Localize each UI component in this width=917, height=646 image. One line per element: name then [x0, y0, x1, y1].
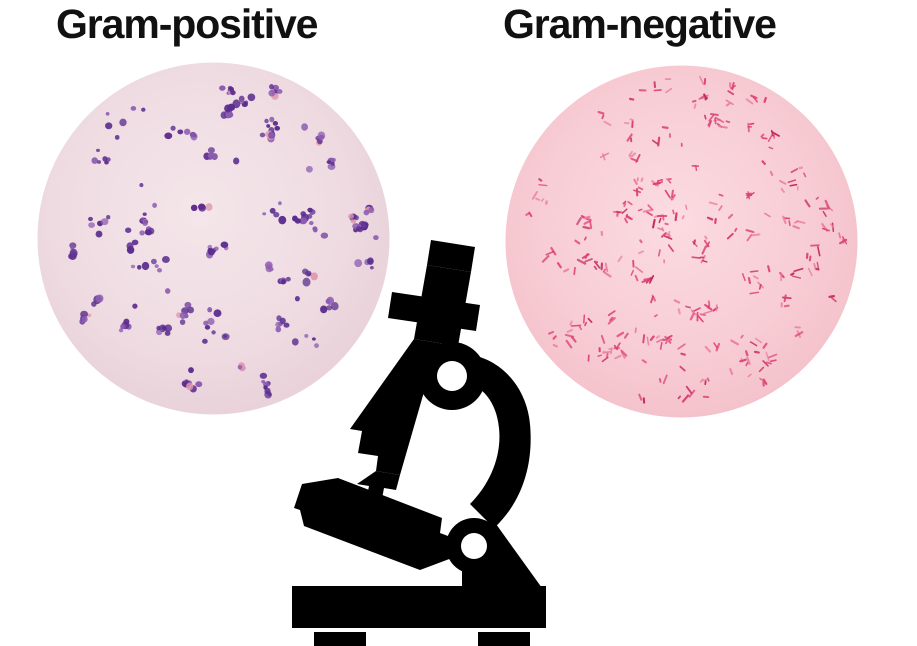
- figure-canvas: Gram-positive Gram-negative: [0, 0, 917, 646]
- coccus-cell: [137, 265, 141, 270]
- coccus-cell: [318, 135, 323, 140]
- microscope-svg: [280, 228, 580, 646]
- base-icon: [292, 586, 546, 628]
- coccus-cell: [162, 256, 170, 263]
- coccus-cell: [224, 105, 231, 113]
- coccus-cell: [186, 382, 193, 390]
- coccus-cell: [88, 217, 93, 221]
- coccus-cell: [307, 214, 312, 219]
- coccus-cell: [157, 268, 162, 273]
- coccus-cell: [268, 90, 275, 97]
- coccus-cell: [214, 309, 222, 317]
- coccus-cell: [177, 129, 183, 134]
- coccus-cell: [119, 119, 126, 127]
- coccus-cell: [180, 319, 185, 325]
- coccus-cell: [263, 385, 267, 389]
- coccus-cell: [125, 227, 131, 232]
- coccus-cell: [96, 294, 104, 302]
- coccus-cell: [278, 216, 286, 224]
- bacillus-cell: [639, 89, 647, 92]
- coccus-cell: [198, 204, 205, 210]
- coccus-cell: [232, 99, 240, 108]
- coccus-cell: [187, 307, 194, 314]
- coarse-focus-knob-icon: [437, 361, 467, 391]
- coccus-cell: [270, 208, 276, 214]
- bacillus-cell: [692, 165, 699, 167]
- coccus-cell: [115, 135, 120, 140]
- coccus-cell: [91, 157, 97, 164]
- coccus-cell: [155, 264, 159, 268]
- coccus-cell: [238, 365, 243, 369]
- coccus-cell: [211, 330, 215, 334]
- bacillus-cell: [599, 347, 601, 352]
- coccus-cell: [260, 133, 266, 138]
- coccus-cell: [97, 160, 101, 164]
- bacillus-cell: [600, 262, 603, 270]
- coccus-cell: [278, 201, 282, 205]
- coccus-cell: [300, 211, 306, 216]
- coccus-cell: [348, 214, 354, 219]
- coccus-cell: [262, 212, 266, 215]
- bacillus-cell: [797, 186, 799, 191]
- coccus-cell: [123, 319, 129, 325]
- microscope-illustration: [280, 228, 580, 646]
- coccus-cell: [126, 242, 133, 249]
- coccus-cell: [106, 112, 110, 116]
- coccus-cell: [139, 230, 144, 235]
- coccus-cell: [221, 242, 229, 248]
- coccus-cell: [106, 215, 110, 219]
- coccus-cell: [180, 312, 186, 319]
- bacillus-cell: [637, 177, 639, 181]
- bacillus-cell: [665, 78, 672, 80]
- coccus-cell: [202, 339, 208, 344]
- coccus-cell: [363, 210, 369, 216]
- coccus-cell: [145, 229, 151, 235]
- bacillus-cell: [657, 215, 667, 217]
- coccus-cell: [119, 328, 123, 332]
- coccus-cell: [96, 149, 100, 152]
- coccus-cell: [143, 212, 147, 215]
- coccus-cell: [141, 108, 145, 112]
- coccus-cell: [156, 326, 161, 331]
- coccus-cell: [184, 129, 190, 135]
- coccus-cell: [91, 301, 97, 307]
- bacillus-cell: [729, 82, 731, 88]
- coccus-cell: [274, 126, 280, 131]
- bacillus-cell: [780, 272, 782, 281]
- coccus-cell: [309, 209, 315, 215]
- coccus-cell: [296, 219, 300, 223]
- coccus-cell: [369, 207, 375, 213]
- coccus-cell: [190, 133, 197, 141]
- coccus-cell: [131, 265, 135, 269]
- coccus-cell: [88, 222, 95, 228]
- base-foot-right-icon: [478, 632, 530, 646]
- coccus-cell: [277, 89, 283, 94]
- fine-focus-knob-icon: [461, 533, 487, 559]
- bacillus-cell: [643, 397, 645, 404]
- coccus-cell: [273, 121, 278, 126]
- coccus-cell: [306, 166, 313, 173]
- coccus-cell: [106, 157, 111, 162]
- coccus-cell: [269, 84, 274, 89]
- coccus-cell: [229, 87, 234, 92]
- coccus-cell: [140, 217, 144, 221]
- coccus-cell: [265, 261, 273, 269]
- coccus-cell: [171, 126, 176, 131]
- coccus-cell: [191, 205, 198, 211]
- coccus-cell: [269, 117, 274, 123]
- coccus-cell: [105, 122, 112, 129]
- coccus-cell: [269, 132, 275, 138]
- coccus-cell: [164, 132, 172, 139]
- coccus-cell: [151, 259, 157, 265]
- bacillus-cell: [762, 381, 765, 387]
- coccus-cell: [132, 303, 137, 308]
- bacillus-cell: [681, 143, 683, 147]
- gram-positive-label: Gram-positive: [56, 2, 317, 48]
- coccus-cell: [101, 218, 109, 225]
- coccus-cell: [219, 85, 225, 90]
- coccus-cell: [351, 219, 356, 223]
- coccus-cell: [222, 333, 230, 340]
- base-foot-left-icon: [314, 632, 366, 646]
- coccus-cell: [206, 203, 213, 211]
- coccus-cell: [264, 119, 268, 123]
- coccus-cell: [266, 124, 270, 128]
- coccus-cell: [332, 158, 336, 162]
- coccus-cell: [195, 381, 202, 387]
- bacillus-cell: [781, 302, 783, 307]
- coccus-cell: [244, 101, 248, 105]
- coccus-cell: [208, 152, 215, 159]
- coccus-cell: [152, 203, 157, 208]
- coccus-cell: [260, 373, 267, 379]
- coccus-cell: [264, 391, 272, 399]
- coccus-cell: [165, 331, 171, 336]
- coccus-cell: [188, 367, 194, 373]
- coccus-cell: [248, 93, 256, 101]
- coccus-cell: [131, 106, 137, 111]
- coccus-cell: [301, 123, 308, 130]
- coccus-cell: [96, 231, 103, 238]
- coccus-cell: [331, 162, 335, 166]
- coccus-cell: [165, 288, 170, 294]
- gram-negative-label: Gram-negative: [503, 2, 776, 48]
- coccus-cell: [207, 318, 214, 325]
- coccus-cell: [207, 307, 212, 312]
- coccus-cell: [139, 183, 143, 187]
- coccus-cell: [142, 262, 150, 270]
- coccus-cell: [70, 249, 78, 258]
- coccus-cell: [81, 316, 87, 323]
- coccus-cell: [214, 247, 219, 251]
- coccus-cell: [205, 325, 210, 330]
- bacillus-cell: [663, 259, 665, 263]
- bacillus-cell: [819, 207, 828, 209]
- coccus-cell: [309, 221, 314, 225]
- coccus-cell: [233, 157, 239, 164]
- bacillus-cell: [669, 133, 671, 138]
- coccus-cell: [163, 327, 167, 331]
